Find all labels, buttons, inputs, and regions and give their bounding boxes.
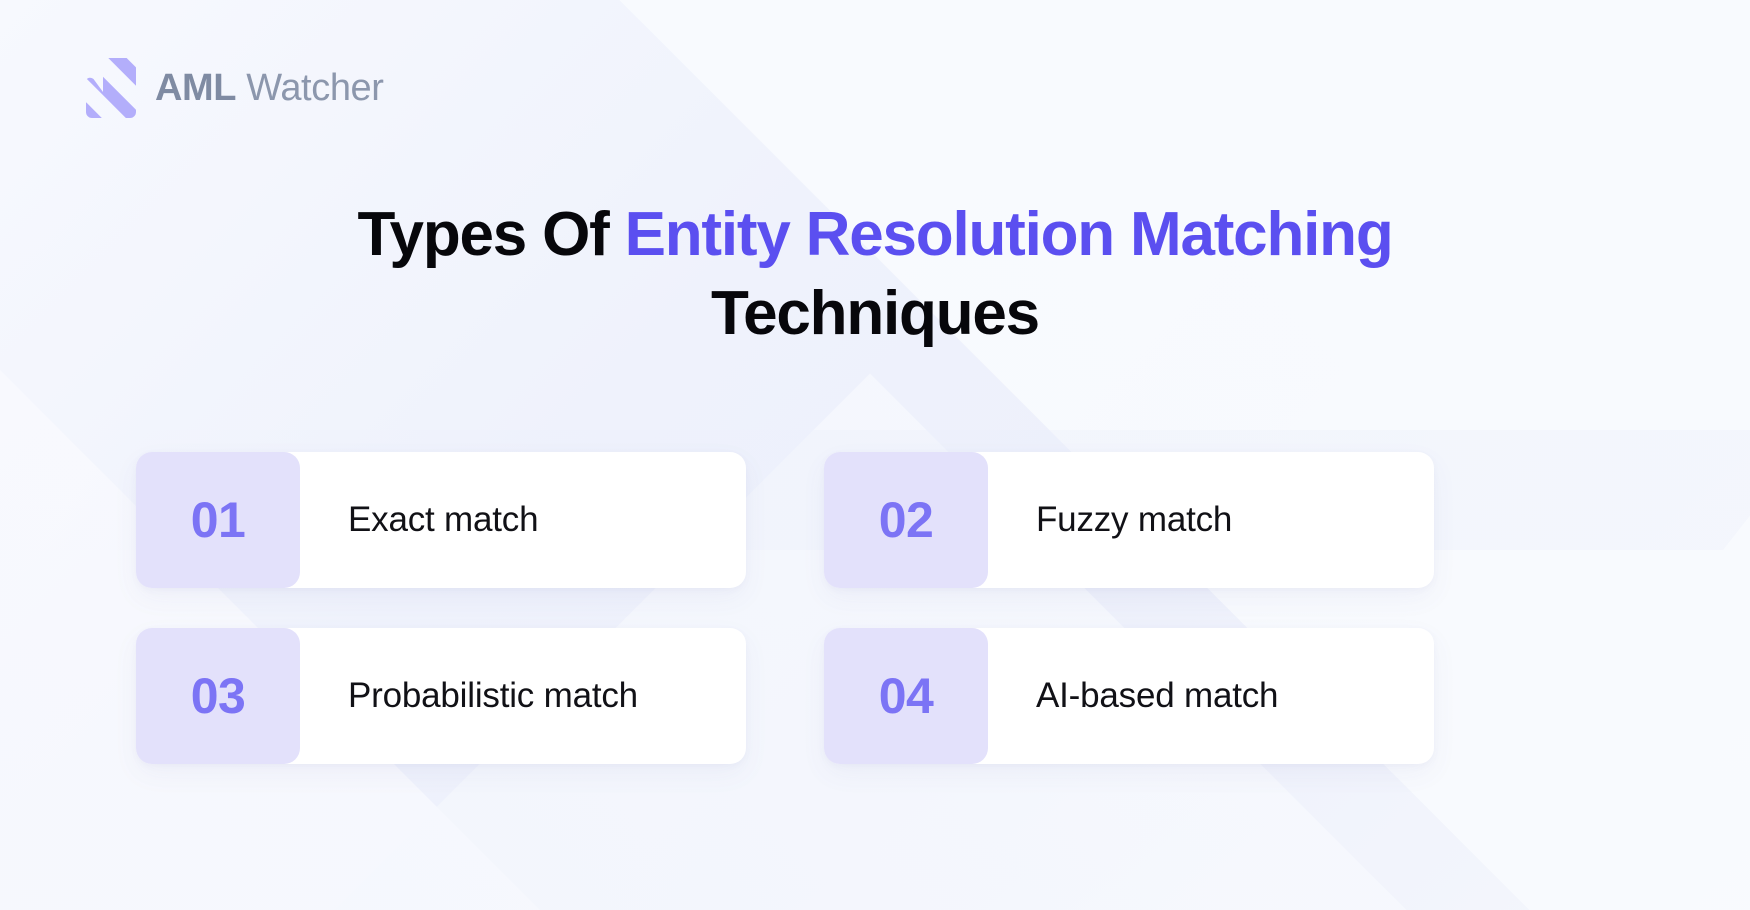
card-number: 03 — [191, 671, 246, 721]
page-title-line1-accent: Entity Resolution Matching — [625, 200, 1393, 269]
infographic-canvas: AML Watcher Types Of Entity Resolution M… — [0, 0, 1750, 910]
page-title: Types Of Entity Resolution Matching Tech… — [0, 196, 1750, 353]
page-title-line2: Techniques — [711, 279, 1039, 348]
card-number-badge: 04 — [824, 628, 988, 764]
card-number-badge: 02 — [824, 452, 988, 588]
page-title-line1-plain: Types Of — [357, 200, 624, 269]
technique-card-grid: 01 Exact match 02 Fuzzy match 03 Probabi… — [136, 452, 1614, 764]
brand-name-light: Watcher — [236, 67, 383, 109]
card-number: 02 — [879, 495, 934, 545]
technique-card: 01 Exact match — [136, 452, 746, 588]
brand-name: AML Watcher — [155, 69, 384, 107]
card-number-badge: 01 — [136, 452, 300, 588]
technique-card: 04 AI-based match — [824, 628, 1434, 764]
card-label: AI-based match — [1036, 628, 1278, 764]
card-label: Probabilistic match — [348, 628, 638, 764]
brand-logo: AML Watcher — [80, 58, 384, 118]
card-label: Fuzzy match — [1036, 452, 1232, 588]
card-number: 01 — [191, 495, 246, 545]
card-label: Exact match — [348, 452, 538, 588]
brand-name-bold: AML — [155, 67, 236, 109]
card-number: 04 — [879, 671, 934, 721]
card-number-badge: 03 — [136, 628, 300, 764]
aml-watcher-chevron-logo-icon — [80, 58, 136, 118]
technique-card: 02 Fuzzy match — [824, 452, 1434, 588]
technique-card: 03 Probabilistic match — [136, 628, 746, 764]
